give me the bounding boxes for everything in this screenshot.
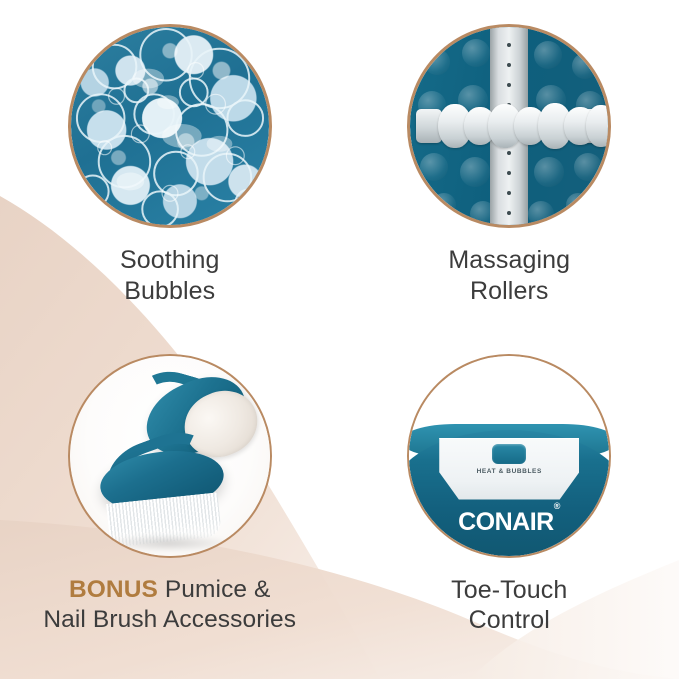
feature-image-wrap	[68, 24, 272, 228]
pumice-and-nail-brush-photo	[68, 354, 272, 558]
foam-bubble-outlines	[71, 27, 269, 225]
feature-tile-toe-touch-control: HEAT & BUBBLES CONAIR® Toe-Touch Control	[340, 340, 679, 679]
feature-image-wrap: HEAT & BUBBLES CONAIR®	[407, 354, 611, 558]
conair-brand-logo: CONAIR®	[409, 508, 609, 537]
bonus-badge-text: BONUS	[69, 576, 158, 603]
feature-image-wrap	[407, 24, 611, 228]
product-shadow	[104, 534, 234, 552]
feature-caption-toe-touch-control: Toe-Touch Control	[451, 575, 567, 637]
conair-wordmark: CONAIR	[458, 508, 554, 536]
infographic-canvas: Soothing Bubbles	[0, 0, 679, 679]
control-panel-label: HEAT & BUBBLES	[409, 468, 609, 475]
feature-caption-bonus-accessories: BONUS Pumice & Nail Brush Accessories	[43, 575, 296, 635]
massage-roller-assembly	[416, 99, 602, 153]
feature-caption-soothing-bubbles: Soothing Bubbles	[120, 245, 220, 307]
feature-tile-soothing-bubbles: Soothing Bubbles	[0, 0, 340, 340]
bubbling-water-photo	[68, 24, 272, 228]
feature-image-wrap	[68, 354, 272, 558]
roller-beads	[438, 103, 580, 149]
toe-touch-button[interactable]	[492, 444, 526, 464]
feature-tile-massaging-rollers: Massaging Rollers	[340, 0, 679, 340]
massage-roller-photo	[407, 24, 611, 228]
registered-trademark-icon: ®	[554, 501, 561, 511]
feature-caption-massaging-rollers: Massaging Rollers	[448, 245, 570, 307]
foot-spa-control-photo: HEAT & BUBBLES CONAIR®	[407, 354, 611, 558]
feature-tile-bonus-accessories: BONUS Pumice & Nail Brush Accessories	[0, 340, 340, 679]
feature-grid: Soothing Bubbles	[0, 0, 679, 679]
